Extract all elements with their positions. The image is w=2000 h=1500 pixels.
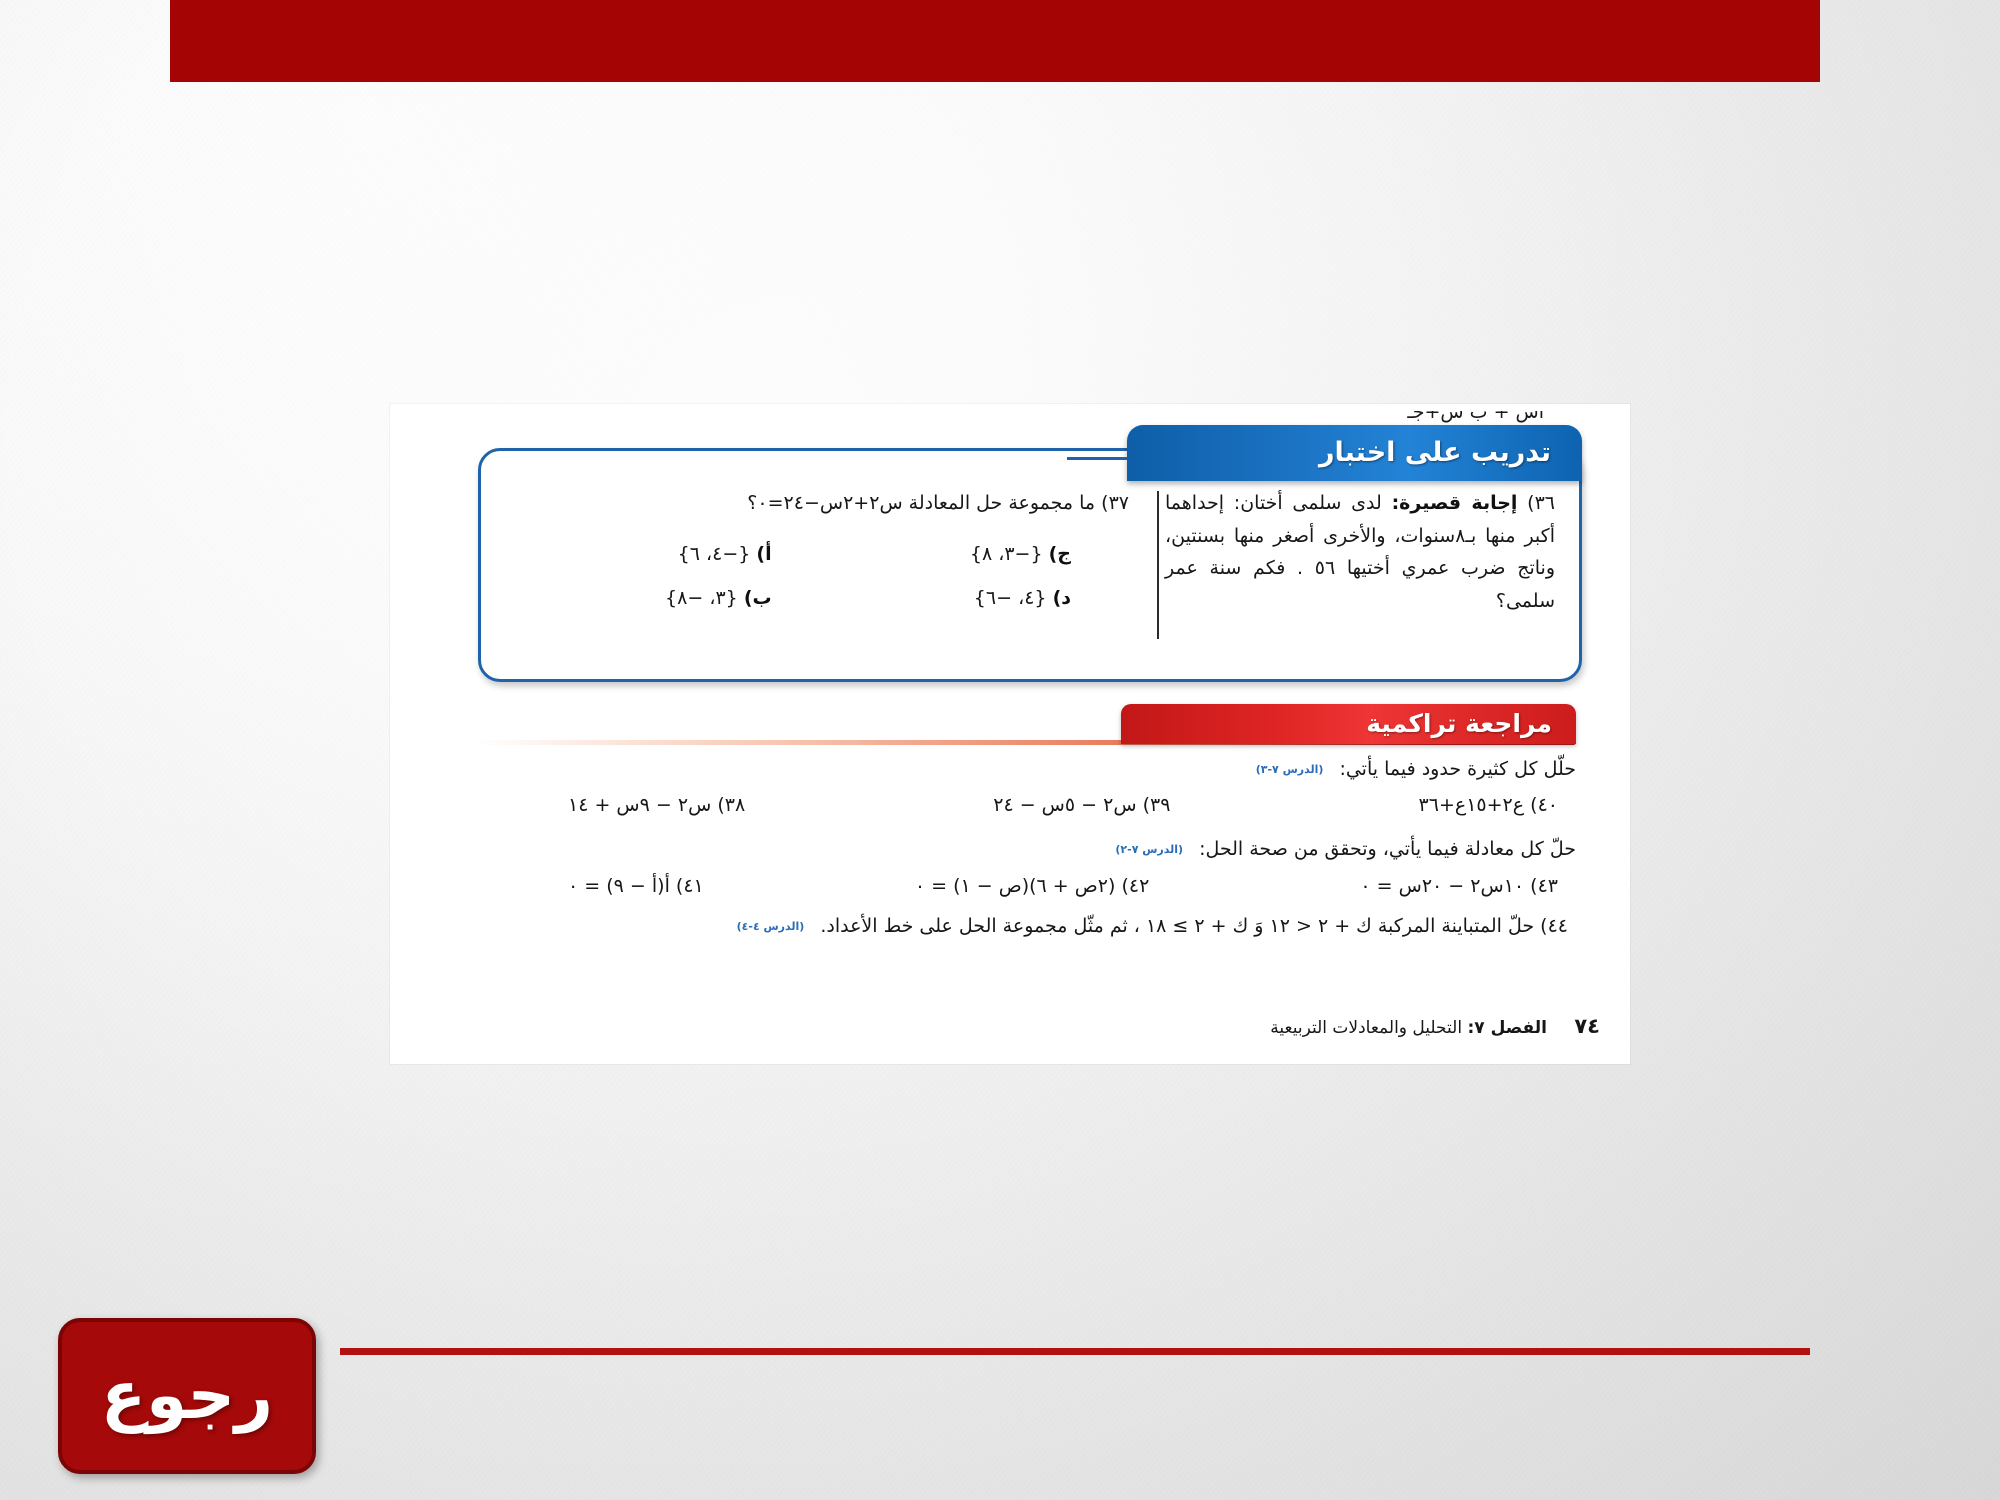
item-41-expr: أ(أ − ٩) = ٠ — [568, 875, 670, 897]
back-button[interactable]: رجوع — [58, 1318, 316, 1474]
question-36-tag: إجابة قصيرة: — [1392, 492, 1518, 514]
test-practice-panel: تدريب على اختبار ٣٦) إجابة قصيرة: لدى سل… — [478, 448, 1582, 682]
page-number: ٧٤ — [1574, 1014, 1600, 1038]
choice-c-value: {−٣، ٨} — [970, 543, 1043, 565]
cumulative-review-body: حلّل كل كثيرة حدود فيما يأتي: (الدرس ٧-٣… — [478, 754, 1576, 956]
item-43-expr: ١٠س٢ − ٢٠س = ٠ — [1360, 875, 1524, 897]
test-practice-tab-shoulder — [1067, 457, 1127, 486]
item-42: ٤٢) (٢ص + ٦)(ص − ١) = ٠ — [915, 875, 1149, 897]
footer-chapter-title: التحليل والمعادلات التربيعية — [1270, 1018, 1462, 1038]
item-40: ٤٠) ع٢+١٥ع+٣٦ — [1419, 794, 1558, 816]
item-39-expr: س٢ − ٥س − ٢٤ — [993, 794, 1136, 816]
question-36-number: ٣٦) — [1527, 492, 1555, 514]
back-button-label: رجوع — [101, 1363, 273, 1429]
item-39-number: ٣٩) — [1143, 794, 1171, 816]
instruction-solve-text: حلّ كل معادلة فيما يأتي، وتحقق من صحة ال… — [1199, 838, 1576, 860]
choice-d-letter: د) — [1053, 587, 1071, 609]
lesson-tag-3: (الدرس ٤-٤) — [737, 920, 805, 933]
question-36: ٣٦) إجابة قصيرة: لدى سلمى أختان: إحداهما… — [1165, 487, 1555, 618]
items-row-factoring: ٤٠) ع٢+١٥ع+٣٦ ٣٩) س٢ − ٥س − ٢٤ ٣٨) س٢ − … — [478, 794, 1576, 816]
lesson-tag-1: (الدرس ٧-٣) — [1256, 763, 1324, 776]
top-red-banner — [170, 0, 1820, 82]
choice-row-2: د) {٤، −٦} ب) {٣، −٨} — [529, 587, 1109, 609]
instruction-factor-text: حلّل كل كثيرة حدود فيما يأتي: — [1339, 758, 1576, 780]
question-37-number: ٣٧) — [1101, 492, 1129, 514]
items-row-solving: ٤٣) ١٠س٢ − ٢٠س = ٠ ٤٢) (٢ص + ٦)(ص − ١) =… — [478, 875, 1576, 897]
choice-b[interactable]: ب) {٣، −٨} — [529, 587, 790, 609]
cumulative-review-title: مراجعة تراكمية — [1366, 706, 1552, 742]
item-40-number: ٤٠) — [1530, 794, 1558, 816]
choice-a-value: {−٤، ٦} — [678, 543, 751, 565]
item-39: ٣٩) س٢ − ٥س − ٢٤ — [993, 794, 1170, 816]
cumulative-review-header: مراجعة تراكمية — [478, 704, 1576, 744]
question-44: ٤٤) حلّ المتباينة المركبة ك + ٢ < ١٢ وَ … — [478, 915, 1576, 937]
item-42-number: ٤٢) — [1121, 875, 1149, 897]
instruction-solve: حلّ كل معادلة فيما يأتي، وتحقق من صحة ال… — [478, 834, 1576, 864]
item-41-number: ٤١) — [676, 875, 704, 897]
question-37-choices: ج) {−٣، ٨} أ) {−٤، ٦} د) {٤، −٦} ب) {٣، … — [529, 543, 1109, 631]
item-42-expr: (٢ص + ٦)(ص − ١) = ٠ — [915, 875, 1116, 897]
item-41: ٤١) أ(أ − ٩) = ٠ — [568, 875, 704, 897]
choice-d[interactable]: د) {٤، −٦} — [790, 587, 1109, 609]
item-38-number: ٣٨) — [717, 794, 745, 816]
choice-c-letter: ج) — [1049, 543, 1071, 565]
footer-chapter: الفصل ٧: — [1467, 1018, 1547, 1038]
item-38-expr: س٢ − ٩س + ١٤ — [568, 794, 711, 816]
instruction-factor: حلّل كل كثيرة حدود فيما يأتي: (الدرس ٧-٣… — [478, 754, 1576, 784]
item-40-expr: ع٢+١٥ع+٣٦ — [1419, 794, 1525, 816]
choice-a-letter: أ) — [756, 543, 771, 565]
choice-d-value: {٤، −٦} — [974, 587, 1047, 609]
choice-a[interactable]: أ) {−٤، ٦} — [529, 543, 790, 565]
test-practice-title: تدريب على اختبار — [1319, 429, 1551, 477]
question-37: ٣٧) ما مجموعة حل المعادلة س٢+٢س−٢٤=٠؟ — [519, 487, 1129, 519]
choice-b-letter: ب) — [744, 587, 772, 609]
choice-b-value: {٣، −٨} — [665, 587, 738, 609]
choice-c[interactable]: ج) {−٣، ٨} — [790, 543, 1109, 565]
textbook-page-card: اس + ب س+جـ تدريب على اختبار ٣٦) إجابة ق… — [390, 404, 1630, 1064]
panel-column-divider — [1157, 491, 1159, 639]
item-43-number: ٤٣) — [1530, 875, 1558, 897]
choice-row-1: ج) {−٣، ٨} أ) {−٤، ٦} — [529, 543, 1109, 565]
question-44-number: ٤٤) — [1540, 915, 1568, 937]
page-footer: ٧٤ الفصل ٧: التحليل والمعادلات التربيعية — [1270, 1014, 1600, 1038]
item-43: ٤٣) ١٠س٢ − ٢٠س = ٠ — [1360, 875, 1558, 897]
item-38: ٣٨) س٢ − ٩س + ١٤ — [568, 794, 745, 816]
clipped-top-expression: اس + ب س+جـ — [1407, 404, 1544, 423]
bottom-red-rule — [340, 1348, 1810, 1355]
question-37-text: ما مجموعة حل المعادلة س٢+٢س−٢٤=٠؟ — [747, 492, 1095, 514]
question-44-text: حلّ المتباينة المركبة ك + ٢ < ١٢ وَ ك + … — [820, 915, 1534, 937]
lesson-tag-2: (الدرس ٧-٢) — [1115, 843, 1183, 856]
